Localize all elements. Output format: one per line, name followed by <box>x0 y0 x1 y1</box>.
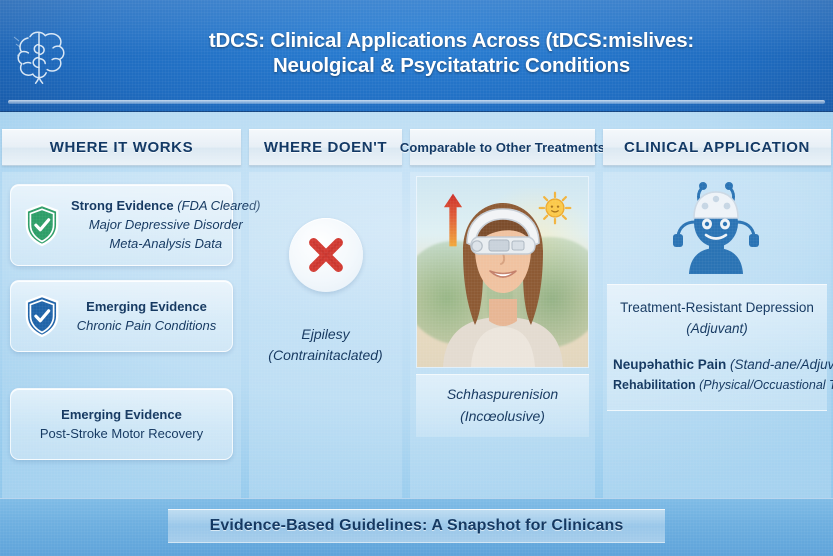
evidence-card-text: Emerging Evidence Post-Stroke Motor Reco… <box>21 405 222 443</box>
evidence-card[interactable]: Emerging Evidence Chronic Pain Condition… <box>10 280 233 352</box>
evidence-card-line: Strong Evidence (FDA Cleared) <box>71 196 261 215</box>
column-header-comparable: Comparable to Other Treatments <box>410 129 595 166</box>
column-header-where-it-works: WHERE IT WORKS <box>2 129 241 166</box>
clinical-application-panel: Treatment-Resistant Depression (Adjuvant… <box>607 284 827 411</box>
person-with-tdcs-headband-photo <box>416 176 589 368</box>
shield-check-blue-icon <box>21 294 63 338</box>
title-line-2: Neuolgical & Psycitatatric Conditions <box>110 53 793 78</box>
brain-icon <box>8 24 74 86</box>
evidence-card[interactable]: Emerging Evidence Post-Stroke Motor Reco… <box>10 388 233 460</box>
column-body-where-it-works: Strong Evidence (FDA Cleared) Major Depr… <box>2 172 241 498</box>
column-body-comparable: Schhaspurenision (Incœolusive) <box>410 172 595 498</box>
evidence-card-line: Major Depressive Disorder <box>71 215 261 234</box>
comparable-caption: Schhaspurenision (Incœolusive) <box>416 374 589 437</box>
evidence-card-line: Meta-Analysis Data <box>71 234 261 253</box>
head-with-electrodes-icon <box>663 178 771 274</box>
column-header-clinical-application: CLINICAL APPLICATION <box>603 129 831 166</box>
column-header-label: WHERE IT WORKS <box>50 139 193 156</box>
evidence-card-text: Strong Evidence (FDA Cleared) Major Depr… <box>71 196 261 253</box>
header-banner: tDCS: Clinical Applications Across (tDCS… <box>0 0 833 112</box>
shield-check-green-icon <box>21 203 63 247</box>
where-doesnt-caption: Ejpilesy (Contrainitaclated) <box>249 324 402 366</box>
column-clinical-application: CLINICAL APPLICATION <box>601 113 833 498</box>
red-x-icon <box>289 218 363 292</box>
caption-line: (Incœolusive) <box>420 405 585 427</box>
footer-bar: Evidence-Based Guidelines: A Snapshot fo… <box>168 509 665 543</box>
clinical-spacer <box>613 339 821 354</box>
columns-container: WHERE IT WORKS Strong Evidence (FDA Clea… <box>0 113 833 498</box>
title-line-1: tDCS: Clinical Applications Across (tDCS… <box>110 28 793 53</box>
infographic-root: tDCS: Clinical Applications Across (tDCS… <box>0 0 833 556</box>
column-where-it-works: WHERE IT WORKS Strong Evidence (FDA Clea… <box>0 113 243 498</box>
column-body-where-doesnt: Ejpilesy (Contrainitaclated) <box>249 172 402 498</box>
page-title: tDCS: Clinical Applications Across (tDCS… <box>110 28 793 78</box>
caption-line: Ejpilesy <box>249 324 402 345</box>
column-header-where-doesnt: WHERE DOEN'T <box>249 129 402 166</box>
evidence-card[interactable]: Strong Evidence (FDA Cleared) Major Depr… <box>10 184 233 266</box>
clinical-line: Neupəhathic Pain (Stand-ane/Adjuvant <box>613 354 821 375</box>
caption-line: (Contrainitaclated) <box>249 345 402 366</box>
evidence-card-line: Emerging Evidence <box>71 297 222 316</box>
column-body-clinical-application: Treatment-Resistant Depression (Adjuvant… <box>603 172 831 498</box>
clinical-line: (Adjuvant) <box>613 318 821 339</box>
evidence-card-line: Emerging Evidence <box>21 405 222 424</box>
person-figure <box>427 195 579 367</box>
evidence-card-line: Post-Stroke Motor Recovery <box>21 424 222 443</box>
column-header-label: Comparable to Other Treatments <box>400 140 605 155</box>
column-header-label: WHERE DOEN'T <box>264 139 387 156</box>
evidence-card-line: Chronic Pain Conditions <box>71 316 222 335</box>
evidence-card-text: Emerging Evidence Chronic Pain Condition… <box>71 297 222 335</box>
column-header-label: CLINICAL APPLICATION <box>624 139 810 156</box>
clinical-line: Rehabilitation (Physical/Occuastional Th… <box>613 375 821 396</box>
column-where-doesnt-work: WHERE DOEN'T Ej <box>247 113 404 498</box>
footer-banner: Evidence-Based Guidelines: A Snapshot fo… <box>0 498 833 556</box>
clinical-line: Treatment-Resistant Depression <box>613 297 821 318</box>
footer-label: Evidence-Based Guidelines: A Snapshot fo… <box>210 517 624 535</box>
caption-line: Schhaspurenision <box>420 383 585 405</box>
column-comparable-treatments: Comparable to Other Treatments <box>408 113 597 498</box>
header-divider <box>8 100 825 104</box>
